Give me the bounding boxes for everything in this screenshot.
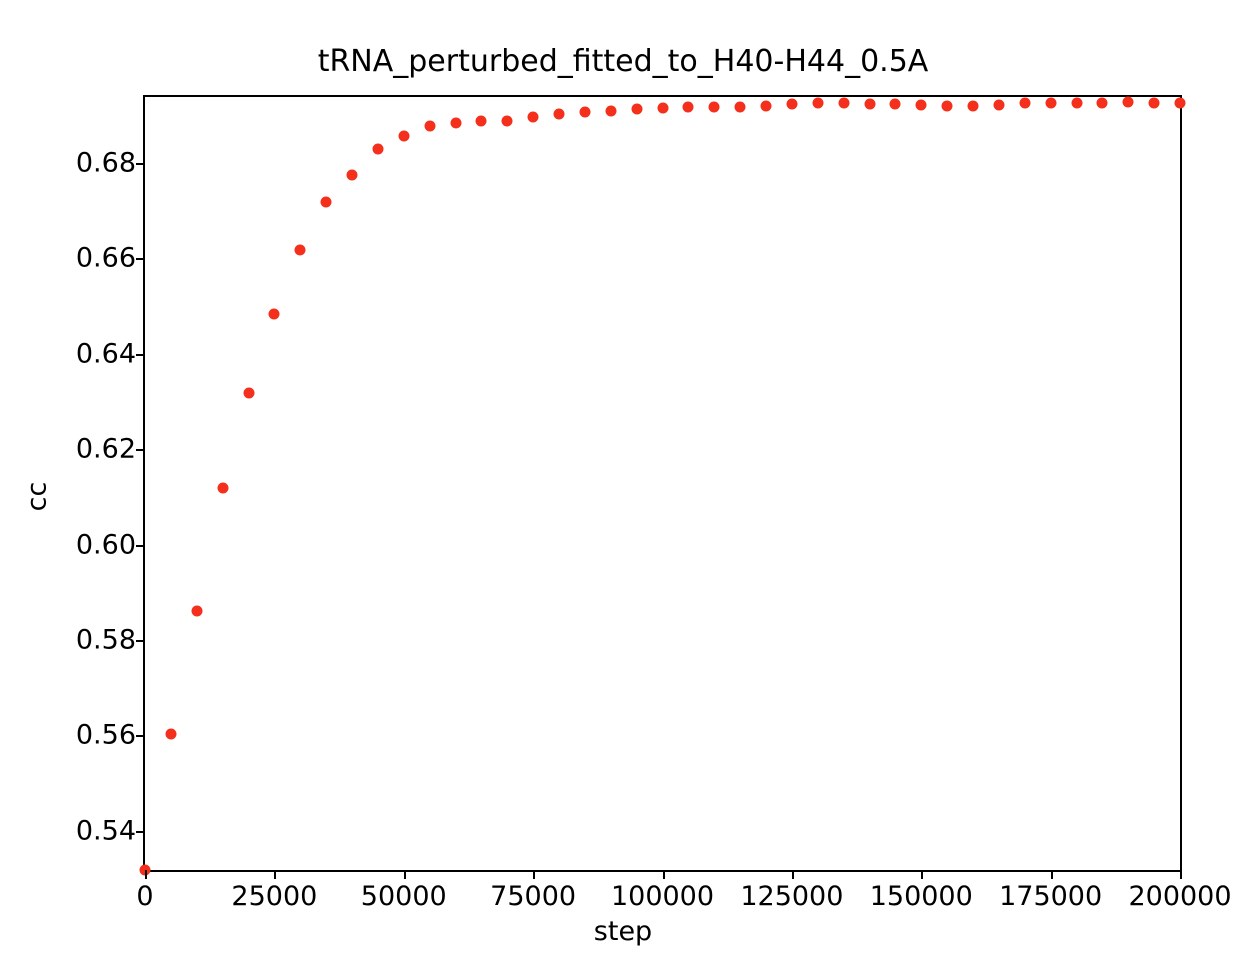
- data-point: [786, 98, 797, 109]
- y-tick-mark: [136, 354, 145, 356]
- data-point: [1071, 98, 1082, 109]
- data-point: [398, 131, 409, 142]
- data-point: [554, 108, 565, 119]
- data-point: [761, 101, 772, 112]
- data-point: [605, 106, 616, 117]
- data-point: [424, 121, 435, 132]
- data-point: [735, 101, 746, 112]
- y-tick-label: 0.56: [76, 722, 136, 749]
- data-point: [321, 196, 332, 207]
- scatter-series: [145, 97, 1180, 870]
- data-point: [890, 99, 901, 110]
- x-tick-label: 25000: [231, 883, 317, 910]
- data-point: [165, 728, 176, 739]
- x-tick-mark: [1180, 870, 1182, 879]
- x-axis-label: step: [0, 916, 1246, 947]
- x-tick-label: 125000: [740, 883, 843, 910]
- data-point: [709, 102, 720, 113]
- y-tick-label: 0.62: [76, 436, 136, 463]
- matplotlib-figure: tRNA_perturbed_fitted_to_H40-H44_0.5A 0.…: [0, 0, 1246, 965]
- y-tick-mark: [136, 545, 145, 547]
- x-tick-label: 100000: [611, 883, 714, 910]
- y-tick-mark: [136, 640, 145, 642]
- x-tick-mark: [663, 870, 665, 879]
- data-point: [838, 97, 849, 108]
- data-point: [1175, 97, 1186, 108]
- data-point: [1123, 97, 1134, 108]
- y-tick-mark: [136, 831, 145, 833]
- data-point: [683, 102, 694, 113]
- data-point: [579, 106, 590, 117]
- data-point: [631, 104, 642, 115]
- x-tick-label: 0: [136, 883, 153, 910]
- data-point: [1019, 98, 1030, 109]
- x-tick-mark: [1051, 870, 1053, 879]
- data-point: [502, 115, 513, 126]
- y-tick-label: 0.68: [76, 149, 136, 176]
- plot-area: 0.540.560.580.600.620.640.660.68 0250005…: [143, 95, 1182, 872]
- data-point: [476, 116, 487, 127]
- data-point: [528, 111, 539, 122]
- x-tick-mark: [792, 870, 794, 879]
- data-point: [217, 483, 228, 494]
- x-tick-mark: [274, 870, 276, 879]
- y-tick-mark: [136, 258, 145, 260]
- data-point: [191, 606, 202, 617]
- data-point: [968, 101, 979, 112]
- data-point: [1149, 97, 1160, 108]
- data-point: [372, 144, 383, 155]
- x-tick-label: 150000: [870, 883, 973, 910]
- data-point: [1097, 97, 1108, 108]
- data-point: [269, 308, 280, 319]
- data-point: [295, 245, 306, 256]
- data-point: [916, 99, 927, 110]
- y-tick-mark: [136, 163, 145, 165]
- x-tick-label: 175000: [999, 883, 1102, 910]
- x-tick-label: 50000: [361, 883, 447, 910]
- data-point: [657, 102, 668, 113]
- x-tick-label: 200000: [1128, 883, 1231, 910]
- y-tick-label: 0.58: [76, 627, 136, 654]
- y-tick-label: 0.66: [76, 245, 136, 272]
- x-tick-mark: [921, 870, 923, 879]
- x-tick-mark: [404, 870, 406, 879]
- y-tick-mark: [136, 449, 145, 451]
- y-tick-label: 0.64: [76, 340, 136, 367]
- x-tick-label: 75000: [490, 883, 576, 910]
- y-tick-label: 0.60: [76, 531, 136, 558]
- data-point: [864, 98, 875, 109]
- data-point: [942, 100, 953, 111]
- data-point: [993, 99, 1004, 110]
- y-axis-label: cc: [21, 482, 52, 512]
- data-point: [243, 388, 254, 399]
- x-tick-mark: [533, 870, 535, 879]
- data-point: [450, 117, 461, 128]
- x-tick-mark: [145, 870, 147, 879]
- y-tick-mark: [136, 735, 145, 737]
- page-title: tRNA_perturbed_fitted_to_H40-H44_0.5A: [0, 44, 1246, 79]
- data-point: [347, 169, 358, 180]
- data-point: [1045, 97, 1056, 108]
- y-tick-label: 0.54: [76, 817, 136, 844]
- data-point: [812, 97, 823, 108]
